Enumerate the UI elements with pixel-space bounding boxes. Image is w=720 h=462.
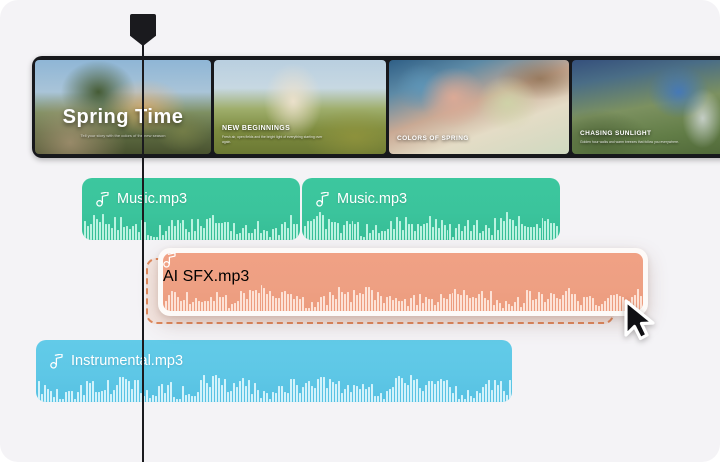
audio-clip-label: Instrumental.mp3 bbox=[50, 353, 183, 369]
video-clip-subtitle: Fresh air, open fields and the bright li… bbox=[222, 135, 327, 145]
audio-clip-filename: Instrumental.mp3 bbox=[71, 353, 183, 369]
video-clip-title: COLORS OF SPRING bbox=[397, 136, 561, 143]
music-note-icon bbox=[316, 192, 329, 207]
video-clip-new-beginnings[interactable]: NEW BEGINNINGS Fresh air, open fields an… bbox=[214, 60, 386, 154]
audio-clip-label: Music.mp3 bbox=[96, 191, 187, 207]
music-note-icon bbox=[96, 192, 109, 207]
audio-clip-filename: Music.mp3 bbox=[117, 191, 187, 207]
audio-clip-body: AI SFX.mp3 bbox=[163, 253, 643, 311]
audio-clip-ai-sfx[interactable]: AI SFX.mp3 bbox=[158, 248, 648, 316]
audio-clip-music-1[interactable]: Music.mp3 bbox=[82, 178, 300, 240]
video-clip-caption: NEW BEGINNINGS Fresh air, open fields an… bbox=[222, 125, 378, 145]
video-clip-title: CHASING SUNLIGHT bbox=[580, 131, 720, 138]
video-clip-title: Spring Time bbox=[35, 107, 211, 128]
audio-clip-filename: Music.mp3 bbox=[337, 191, 407, 207]
audio-clip-music-2[interactable]: Music.mp3 bbox=[302, 178, 560, 240]
audio-clip-label: Music.mp3 bbox=[316, 191, 407, 207]
video-clip-spring-time[interactable]: Spring Time Tell your story with the col… bbox=[35, 60, 211, 154]
waveform bbox=[302, 178, 560, 240]
video-clip-caption: CHASING SUNLIGHT Golden hour walks and w… bbox=[580, 131, 720, 145]
timeline-canvas: Spring Time Tell your story with the col… bbox=[0, 0, 720, 462]
playhead-handle[interactable] bbox=[130, 14, 156, 46]
video-clip-colors-of-spring[interactable]: COLORS OF SPRING bbox=[389, 60, 569, 154]
video-clip-title: NEW BEGINNINGS bbox=[222, 125, 378, 132]
video-track[interactable]: Spring Time Tell your story with the col… bbox=[32, 56, 720, 158]
video-clip-subtitle: Tell your story with the colors of the n… bbox=[35, 133, 211, 139]
video-clip-subtitle: Golden hour walks and warm breezes that … bbox=[580, 140, 685, 145]
video-clip-chasing-sunlight[interactable]: CHASING SUNLIGHT Golden hour walks and w… bbox=[572, 60, 720, 154]
audio-clip-instrumental[interactable]: Instrumental.mp3 bbox=[36, 340, 512, 402]
waveform bbox=[163, 253, 643, 311]
video-clip-caption: COLORS OF SPRING bbox=[397, 136, 561, 145]
music-note-icon bbox=[50, 354, 63, 369]
waveform bbox=[36, 340, 512, 402]
waveform bbox=[82, 178, 300, 240]
